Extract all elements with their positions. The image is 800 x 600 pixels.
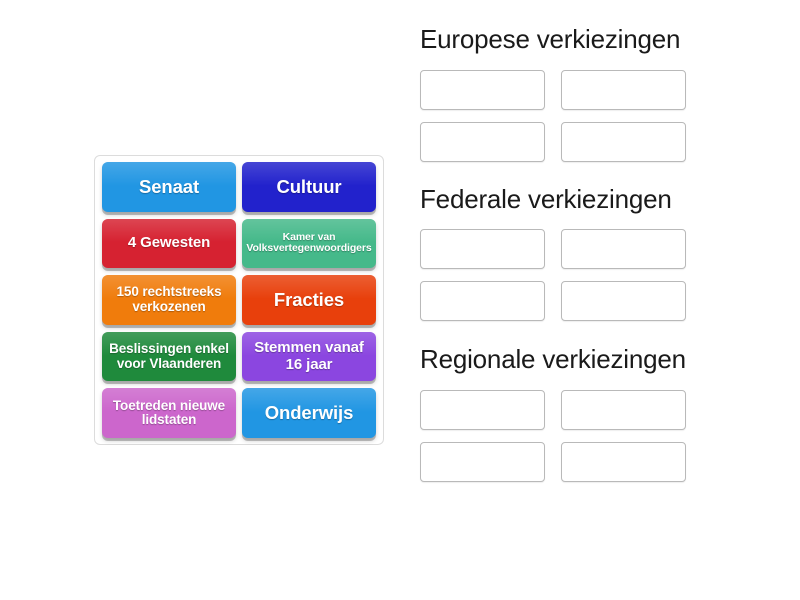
tile-label: Fracties (274, 290, 344, 310)
draggable-tile[interactable]: Kamer van Volksvertegenwoordigers (242, 219, 376, 269)
drop-group: Regionale verkiezingen (420, 344, 720, 482)
drop-slot[interactable] (561, 390, 686, 430)
slot-grid (420, 229, 720, 321)
group-title: Regionale verkiezingen (420, 344, 720, 376)
draggable-tile[interactable]: Stemmen vanaf 16 jaar (242, 332, 376, 382)
draggable-tile[interactable]: Toetreden nieuwe lidstaten (102, 388, 236, 438)
draggable-tile[interactable]: Fracties (242, 275, 376, 325)
drop-slot[interactable] (420, 229, 545, 269)
group-title: Federale verkiezingen (420, 184, 720, 216)
drop-group: Europese verkiezingen (420, 24, 720, 162)
tile-label: Cultuur (276, 177, 341, 197)
tile-tray: SenaatCultuur4 GewestenKamer van Volksve… (94, 155, 384, 445)
drop-slot[interactable] (561, 70, 686, 110)
draggable-tile[interactable]: 150 rechtstreeks verkozenen (102, 275, 236, 325)
drop-slot[interactable] (420, 281, 545, 321)
draggable-tile[interactable]: Beslissingen enkel voor Vlaanderen (102, 332, 236, 382)
tile-label: Onderwijs (265, 403, 354, 423)
drop-slot[interactable] (420, 122, 545, 162)
draggable-tile[interactable]: Cultuur (242, 162, 376, 212)
drop-slot[interactable] (561, 229, 686, 269)
group-title: Europese verkiezingen (420, 24, 720, 56)
drop-slot[interactable] (561, 281, 686, 321)
drop-slot[interactable] (561, 442, 686, 482)
tile-label: Kamer van Volksvertegenwoordigers (246, 232, 372, 255)
drop-group: Federale verkiezingen (420, 184, 720, 322)
draggable-tile[interactable]: Onderwijs (242, 388, 376, 438)
drop-slot[interactable] (420, 442, 545, 482)
tile-label: Toetreden nieuwe lidstaten (106, 399, 232, 428)
tile-label: 4 Gewesten (128, 235, 210, 251)
tile-grid: SenaatCultuur4 GewestenKamer van Volksve… (102, 162, 376, 438)
draggable-tile[interactable]: 4 Gewesten (102, 219, 236, 269)
tile-label: 150 rechtstreeks verkozenen (106, 285, 232, 314)
group-list: Europese verkiezingenFederale verkiezing… (420, 24, 720, 488)
tile-label: Beslissingen enkel voor Vlaanderen (106, 342, 232, 371)
drop-slot[interactable] (420, 390, 545, 430)
slot-grid (420, 70, 720, 162)
drop-slot[interactable] (420, 70, 545, 110)
draggable-tile[interactable]: Senaat (102, 162, 236, 212)
tile-label: Stemmen vanaf 16 jaar (246, 340, 372, 372)
tile-label: Senaat (139, 177, 199, 197)
slot-grid (420, 390, 720, 482)
drop-slot[interactable] (561, 122, 686, 162)
